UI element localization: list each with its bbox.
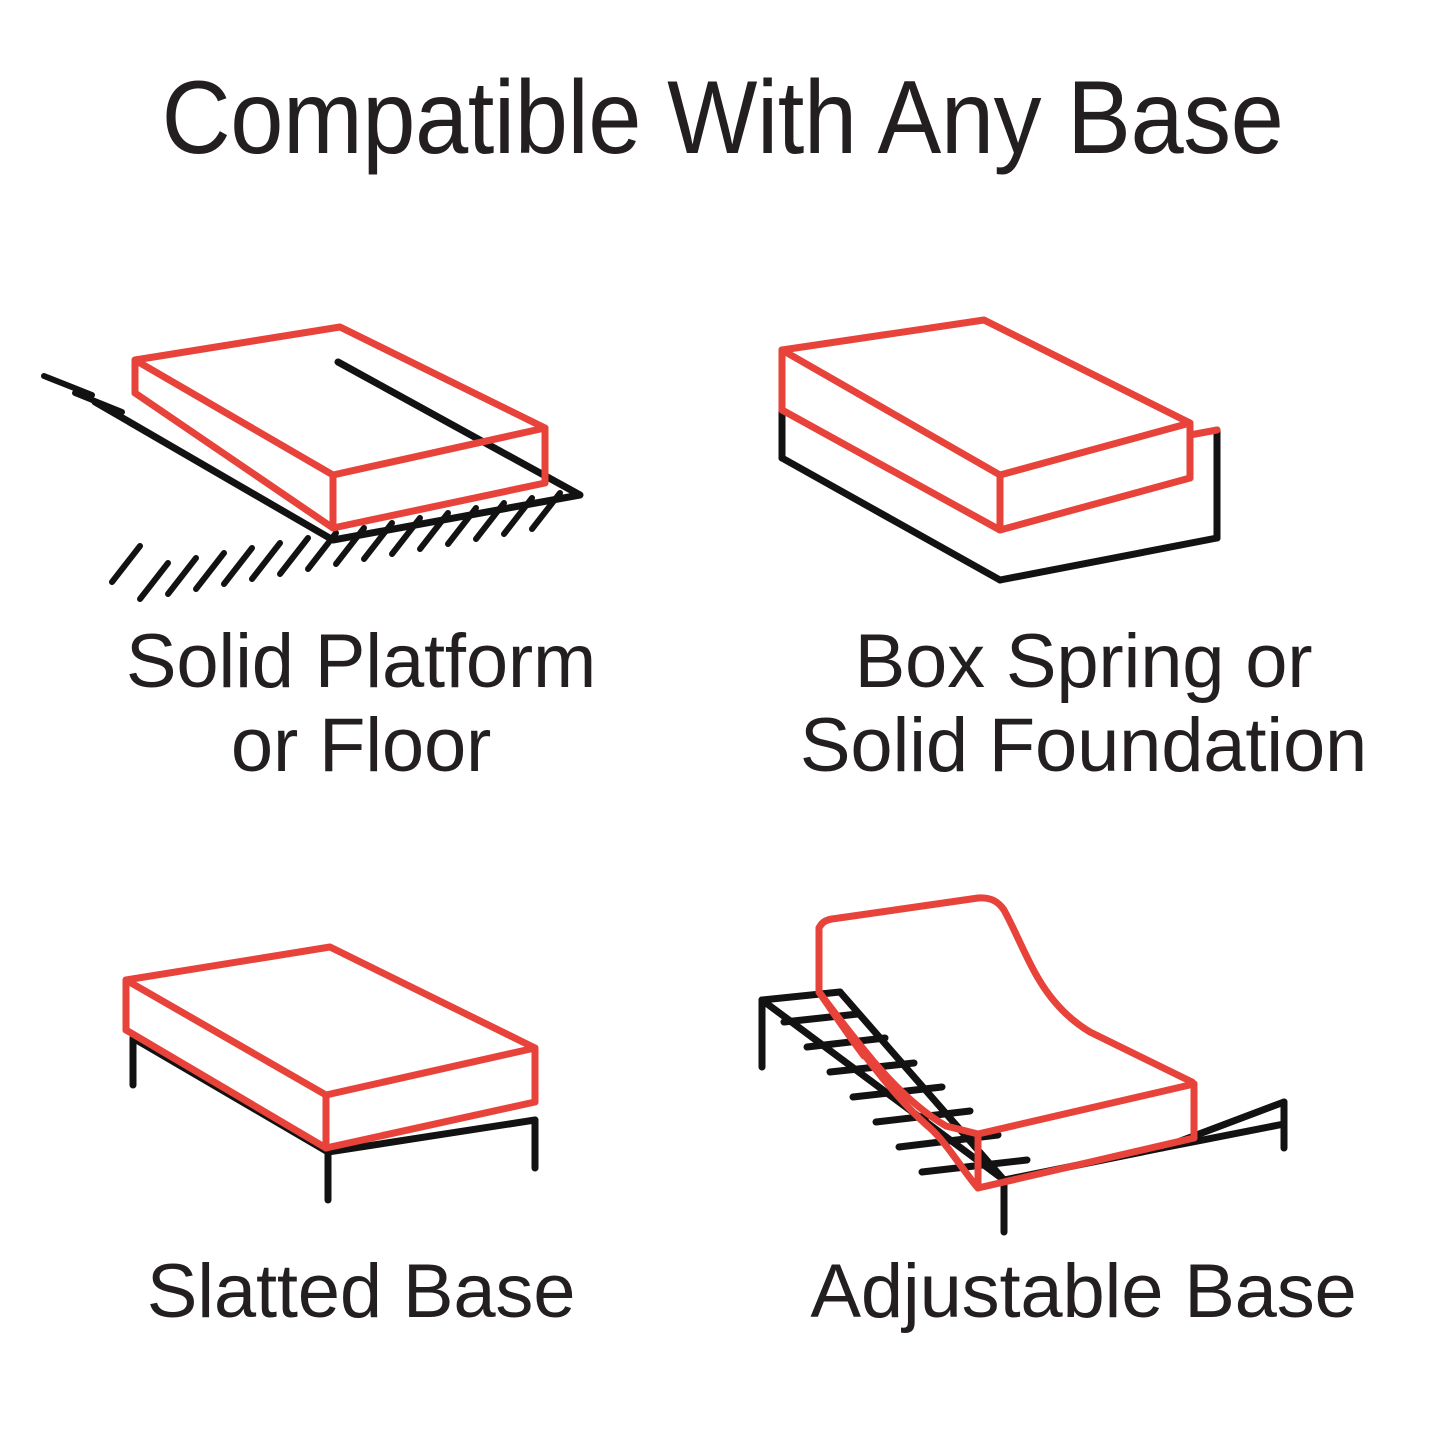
caption-box-spring: Box Spring or Solid Foundation	[722, 620, 1445, 788]
caption-line-1: Slatted Base	[0, 1250, 722, 1334]
mattress-on-slatted-base-icon	[0, 880, 722, 1240]
base-option-solid-platform: Solid Platform or Floor	[0, 290, 722, 810]
base-option-box-spring: Box Spring or Solid Foundation	[722, 290, 1445, 810]
caption-solid-platform: Solid Platform or Floor	[0, 620, 722, 788]
caption-line-2: Solid Foundation	[722, 704, 1445, 788]
base-option-adjustable: Adjustable Base	[722, 880, 1445, 1360]
mattress-on-solid-platform-icon	[0, 290, 722, 620]
page-title: Compatible With Any Base	[58, 62, 1387, 174]
caption-slatted: Slatted Base	[0, 1250, 722, 1334]
caption-line-1: Adjustable Base	[722, 1250, 1445, 1334]
caption-adjustable: Adjustable Base	[722, 1250, 1445, 1334]
caption-line-1: Solid Platform	[0, 620, 722, 704]
caption-line-2: or Floor	[0, 704, 722, 788]
base-option-slatted: Slatted Base	[0, 880, 722, 1360]
infographic-page: Compatible With Any Base	[0, 0, 1445, 1445]
caption-line-1: Box Spring or	[722, 620, 1445, 704]
mattress-on-box-spring-icon	[722, 290, 1445, 620]
mattress-on-adjustable-base-icon	[722, 880, 1445, 1240]
